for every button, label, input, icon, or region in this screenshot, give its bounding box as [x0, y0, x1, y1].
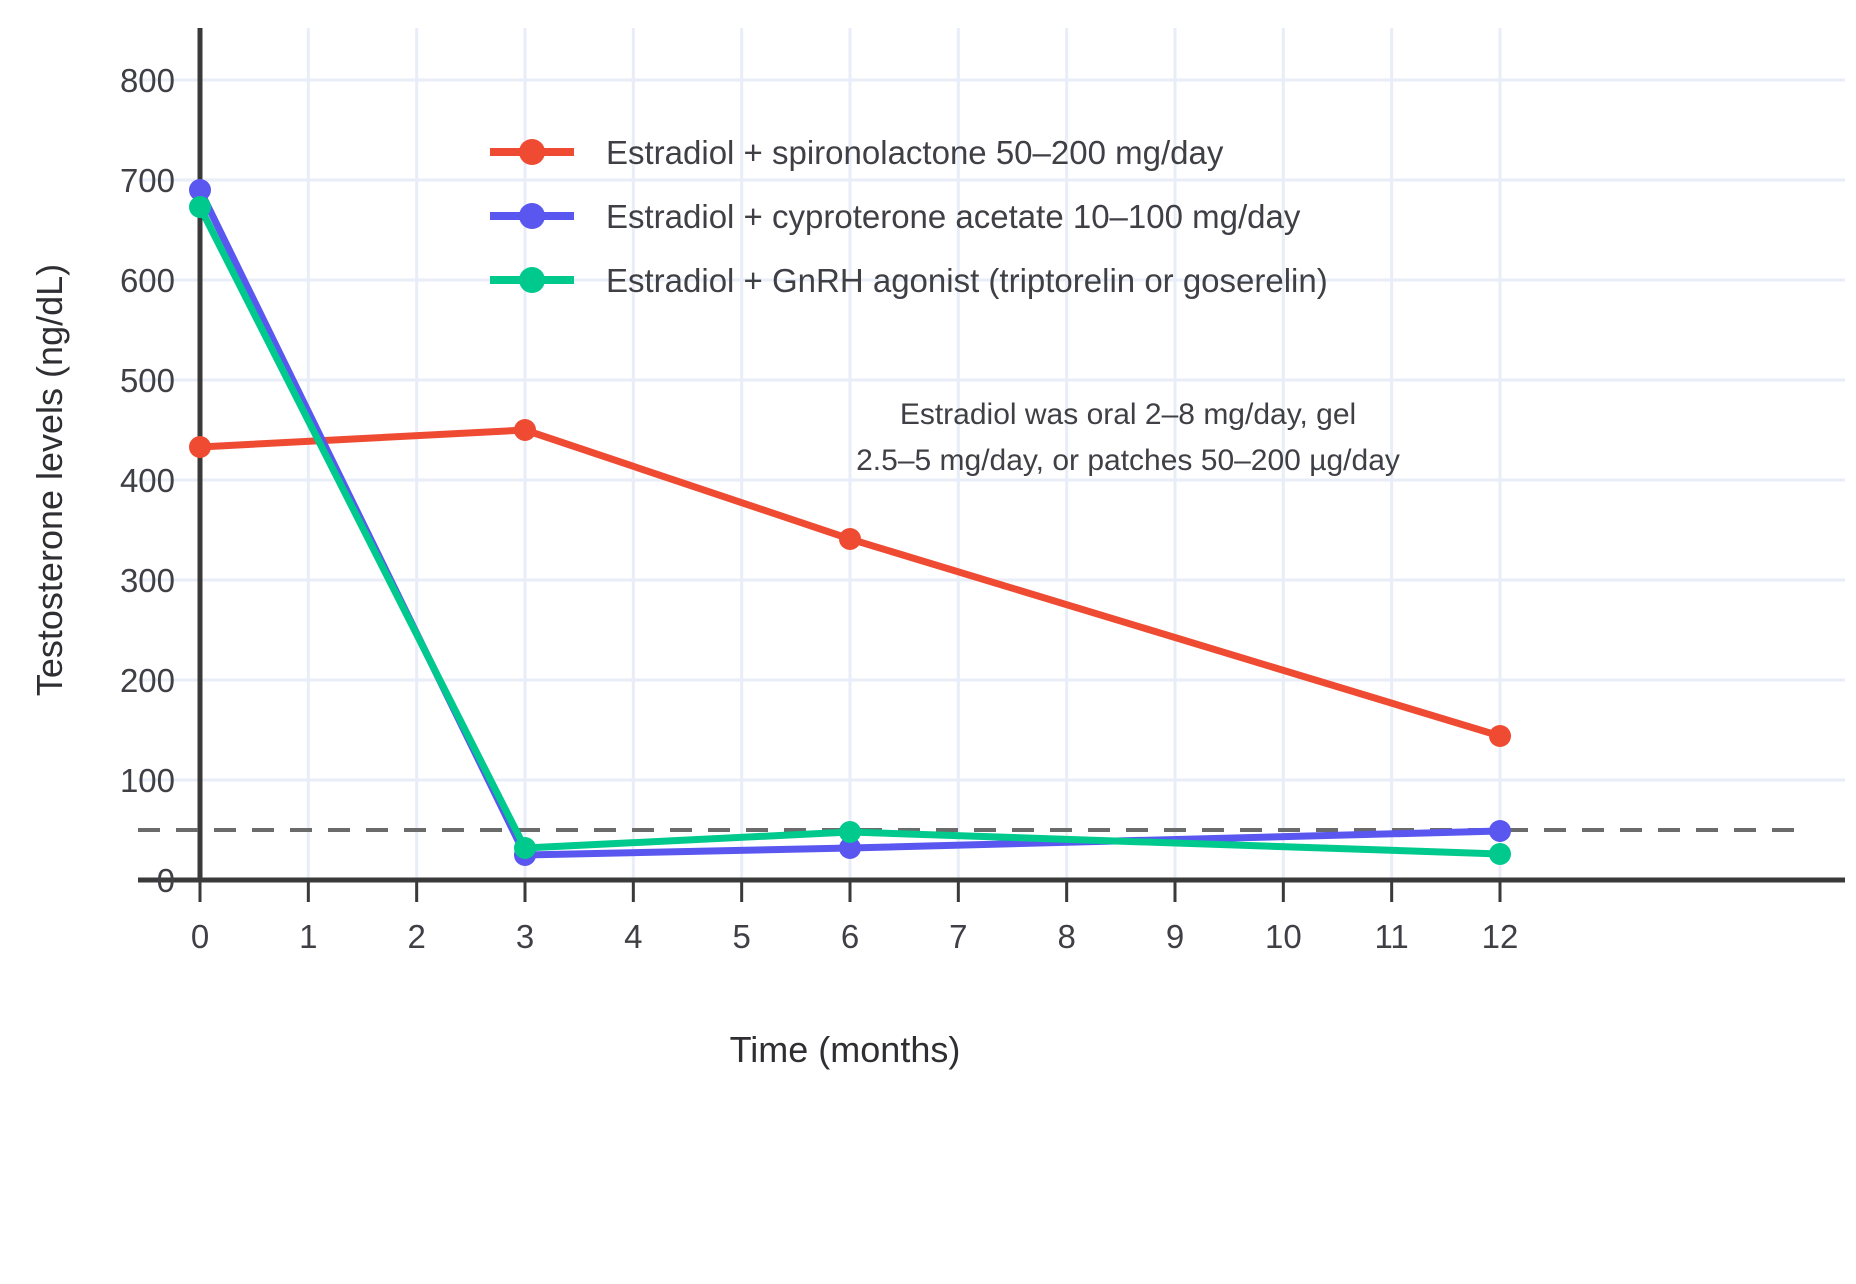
x-tick-label-0: 0 [191, 918, 209, 955]
x-tick-label-2: 2 [407, 918, 425, 955]
data-point[interactable] [514, 419, 536, 441]
x-tick-label-9: 9 [1166, 918, 1184, 955]
x-tick-label-4: 4 [624, 918, 642, 955]
annotation-line-1: Estradiol was oral 2–8 mg/day, gel [900, 398, 1356, 431]
y-tick-label-700: 700 [120, 162, 175, 199]
x-tick-label-3: 3 [516, 918, 534, 955]
legend-item-1[interactable]: Estradiol + cyproterone acetate 10–100 m… [490, 198, 1301, 235]
data-point[interactable] [1489, 725, 1511, 747]
data-point[interactable] [189, 436, 211, 458]
x-tick-label-7: 7 [949, 918, 967, 955]
x-tick-label-12: 12 [1482, 918, 1519, 955]
y-tick-label-100: 100 [120, 762, 175, 799]
y-tick-labels: 0100200300400500600700800 [120, 62, 175, 899]
x-tick-label-5: 5 [732, 918, 750, 955]
chart-legend: Estradiol + spironolactone 50–200 mg/day… [490, 134, 1328, 299]
annotation-line-2: 2.5–5 mg/day, or patches 50–200 µg/day [856, 444, 1400, 477]
legend-swatch-marker [519, 139, 545, 165]
y-tick-label-300: 300 [120, 562, 175, 599]
y-tick-label-0: 0 [157, 862, 175, 899]
legend-swatch-marker [519, 203, 545, 229]
y-tick-label-600: 600 [120, 262, 175, 299]
data-point[interactable] [514, 837, 536, 859]
data-point[interactable] [1489, 820, 1511, 842]
y-axis-title: Testosterone levels (ng/dL) [29, 264, 70, 696]
x-tick-label-8: 8 [1057, 918, 1075, 955]
y-tick-label-500: 500 [120, 362, 175, 399]
data-point[interactable] [1489, 843, 1511, 865]
legend-item-label: Estradiol + GnRH agonist (triptorelin or… [606, 262, 1328, 299]
y-tick-label-400: 400 [120, 462, 175, 499]
y-tick-label-800: 800 [120, 62, 175, 99]
x-axis-title: Time (months) [730, 1029, 961, 1070]
data-point[interactable] [839, 821, 861, 843]
legend-item-2[interactable]: Estradiol + GnRH agonist (triptorelin or… [490, 262, 1328, 299]
chart-background [0, 0, 1856, 1284]
chart-canvas: 0100200300400500600700800 01234567891011… [0, 0, 1856, 1284]
testosterone-line-chart: 0100200300400500600700800 01234567891011… [0, 0, 1856, 1284]
legend-item-label: Estradiol + cyproterone acetate 10–100 m… [606, 198, 1301, 235]
legend-item-label: Estradiol + spironolactone 50–200 mg/day [606, 134, 1224, 171]
x-tick-label-1: 1 [299, 918, 317, 955]
x-tick-label-11: 11 [1375, 918, 1409, 955]
data-point[interactable] [189, 196, 211, 218]
y-tick-label-200: 200 [120, 662, 175, 699]
legend-swatch-marker [519, 267, 545, 293]
data-point[interactable] [839, 528, 861, 550]
x-tick-label-10: 10 [1265, 918, 1302, 955]
x-tick-label-6: 6 [841, 918, 859, 955]
